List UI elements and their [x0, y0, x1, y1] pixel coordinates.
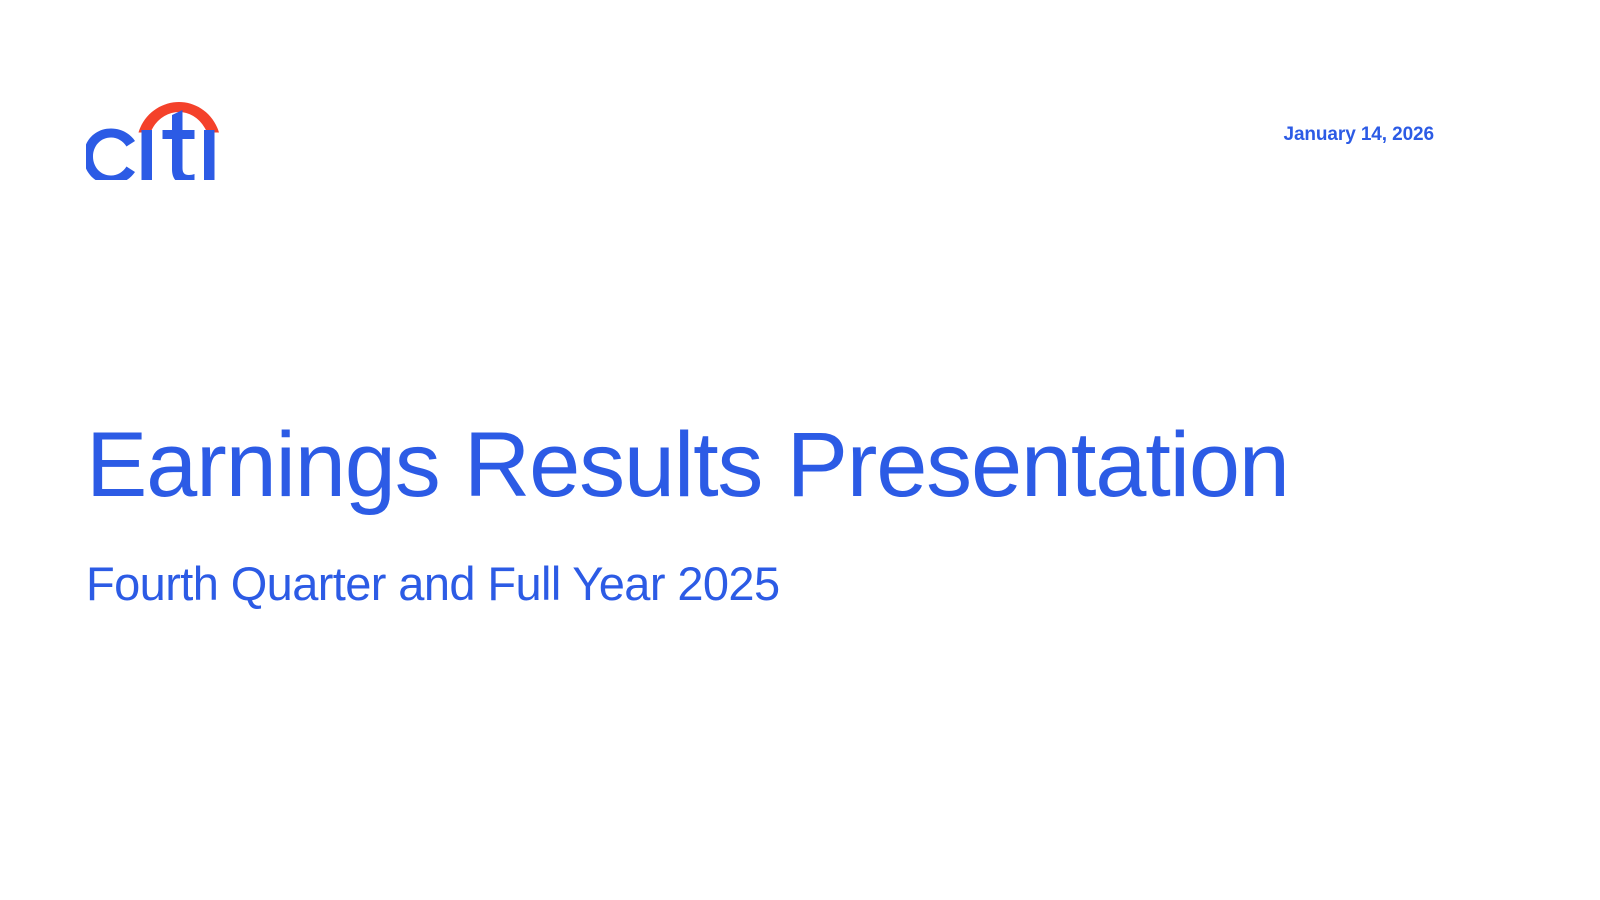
- citi-logo-letter-i-second: [204, 130, 215, 180]
- page-subtitle: Fourth Quarter and Full Year 2025: [86, 514, 1486, 610]
- citi-logo-letter-i-first: [142, 130, 153, 180]
- citi-logo-letter-t: [163, 110, 195, 180]
- page-title: Earnings Results Presentation: [86, 418, 1486, 514]
- citi-logo-letter-c: [86, 129, 135, 181]
- citi-logo[interactable]: [86, 96, 221, 180]
- title-slide: January 14, 2026 Earnings Results Presen…: [0, 0, 1600, 900]
- slide-date: January 14, 2026: [1283, 124, 1434, 146]
- title-block: Earnings Results Presentation Fourth Qua…: [86, 418, 1486, 609]
